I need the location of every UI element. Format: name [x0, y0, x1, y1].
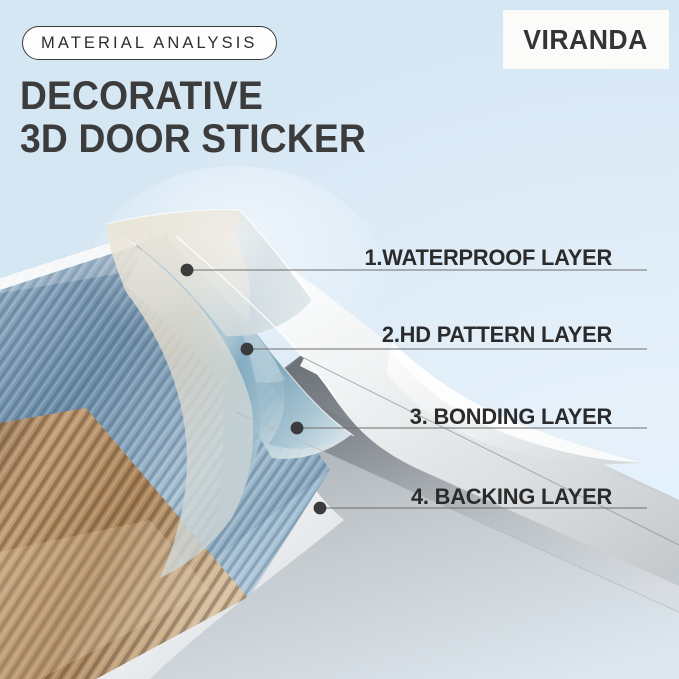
- page-title-line-2: 3D DOOR STICKER: [20, 117, 366, 162]
- poster-canvas: MATERIAL ANALYSIS DECORATIVE 3D DOOR STI…: [0, 0, 679, 679]
- callout-label-1: 1.WATERPROOF LAYER: [238, 245, 645, 276]
- callout-dot-1: [181, 264, 194, 277]
- brand-name: VIRANDA: [524, 24, 649, 56]
- badge-label: MATERIAL ANALYSIS: [41, 34, 258, 53]
- callout-label-3: 3. BONDING LAYER: [238, 404, 645, 435]
- callout-label-4: 4. BACKING LAYER: [238, 484, 645, 515]
- callout-label-2: 2.HD PATTERN LAYER: [238, 322, 645, 353]
- page-title-line-1: DECORATIVE: [20, 74, 263, 119]
- material-analysis-badge: MATERIAL ANALYSIS: [22, 26, 277, 60]
- brand-logo-box: VIRANDA: [503, 10, 669, 69]
